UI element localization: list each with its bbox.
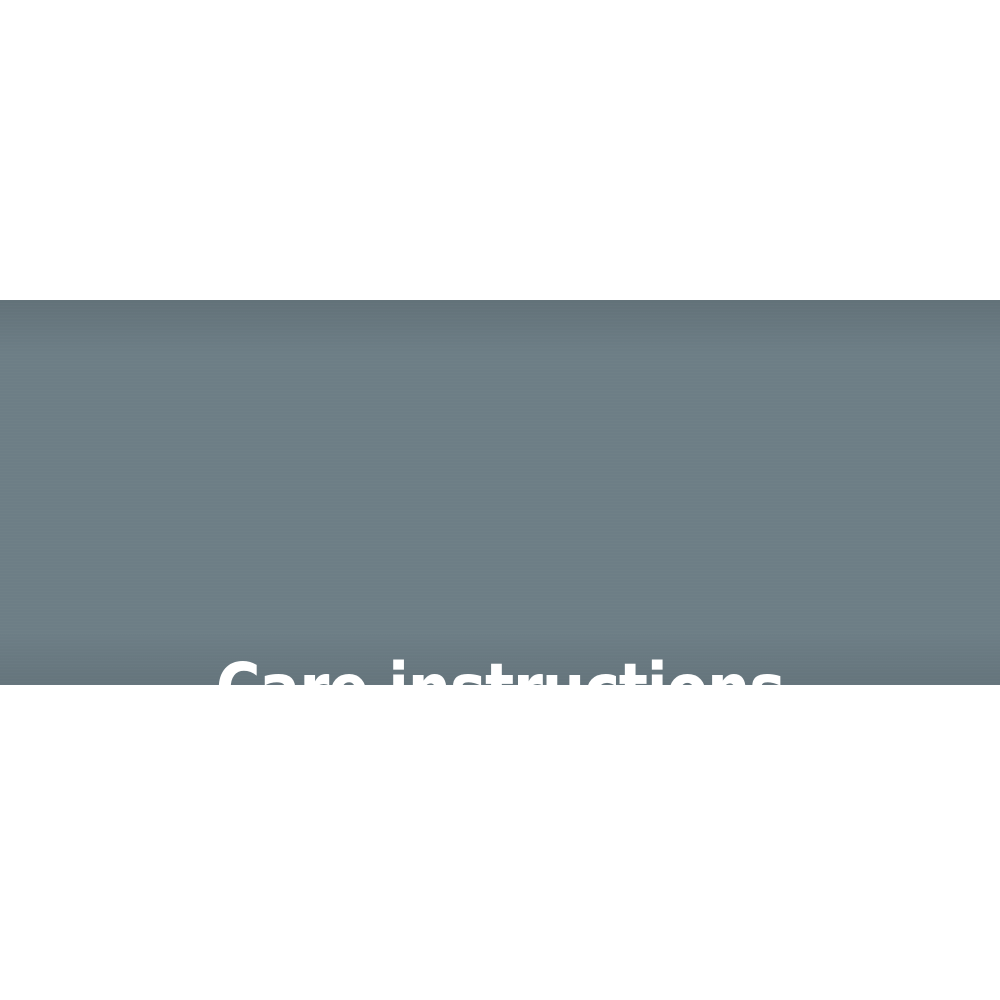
banner-content: Care instructions Machine washable cold xyxy=(0,300,1000,685)
care-instructions-banner: Care instructions Machine washable cold xyxy=(0,300,1000,685)
page-title: Care instructions xyxy=(70,652,930,685)
